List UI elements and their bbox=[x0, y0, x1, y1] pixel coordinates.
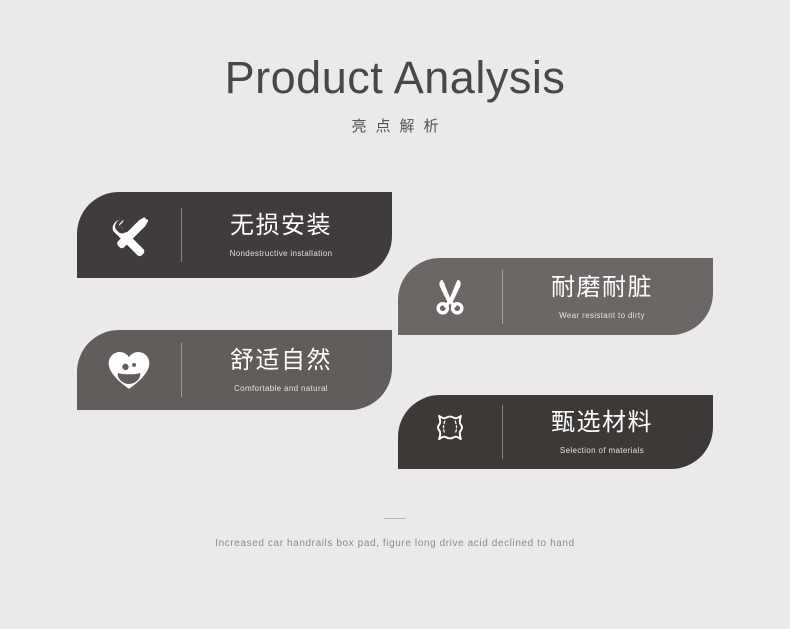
card-title-cn: 耐磨耐脏 bbox=[551, 273, 653, 303]
page-subtitle: 亮点解析 bbox=[0, 118, 790, 136]
heart-face-icon bbox=[77, 345, 181, 395]
card-title-cn: 甄选材料 bbox=[551, 408, 653, 438]
card-text-group: 舒适自然 Comfortable and natural bbox=[182, 346, 392, 394]
feature-card-wear-resistant[interactable]: 耐磨耐脏 Wear resistant to dirty bbox=[398, 258, 713, 335]
page-footer: Increased car handrails box pad, figure … bbox=[0, 518, 790, 551]
scissors-icon bbox=[398, 273, 502, 321]
leather-hide-icon bbox=[398, 408, 502, 456]
card-title-en: Comfortable and natural bbox=[234, 383, 328, 394]
card-title-cn: 舒适自然 bbox=[230, 346, 332, 376]
feature-card-comfortable-natural[interactable]: 舒适自然 Comfortable and natural bbox=[77, 330, 392, 410]
card-title-cn: 无损安装 bbox=[230, 211, 332, 241]
card-text-group: 甄选材料 Selection of materials bbox=[503, 408, 713, 456]
card-title-en: Selection of materials bbox=[560, 445, 644, 456]
card-text-group: 无损安装 Nondestructive installation bbox=[182, 211, 392, 259]
feature-card-selection-materials[interactable]: 甄选材料 Selection of materials bbox=[398, 395, 713, 469]
feature-card-nondestructive-installation[interactable]: 无损安装 Nondestructive installation bbox=[77, 192, 392, 278]
page-title: Product Analysis bbox=[0, 52, 790, 104]
card-text-group: 耐磨耐脏 Wear resistant to dirty bbox=[503, 273, 713, 321]
footer-divider bbox=[384, 518, 406, 519]
page-root: Product Analysis 亮点解析 无损安装 Nondestructiv… bbox=[0, 0, 790, 629]
card-title-en: Nondestructive installation bbox=[230, 248, 333, 259]
page-header: Product Analysis 亮点解析 bbox=[0, 52, 790, 136]
footer-note: Increased car handrails box pad, figure … bbox=[0, 537, 790, 551]
wrench-screwdriver-icon bbox=[77, 209, 181, 261]
card-title-en: Wear resistant to dirty bbox=[559, 310, 645, 321]
